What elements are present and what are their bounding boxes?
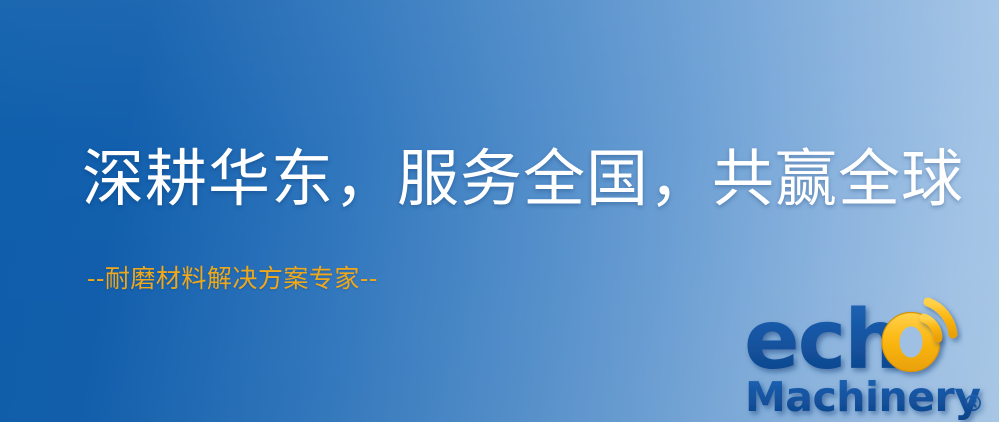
banner-headline: 深耕华东，服务全国，共赢全球 (82, 148, 964, 210)
echo-machinery-logo: ech Machinery ® (744, 298, 994, 422)
promotional-banner: 深耕华东，服务全国，共赢全球 --耐磨材料解决方案专家-- (0, 0, 999, 422)
logo-tagline: Machinery (745, 373, 980, 421)
logo-trademark-symbol: ® (962, 392, 984, 417)
banner-subtitle: --耐磨材料解决方案专家-- (87, 266, 378, 291)
